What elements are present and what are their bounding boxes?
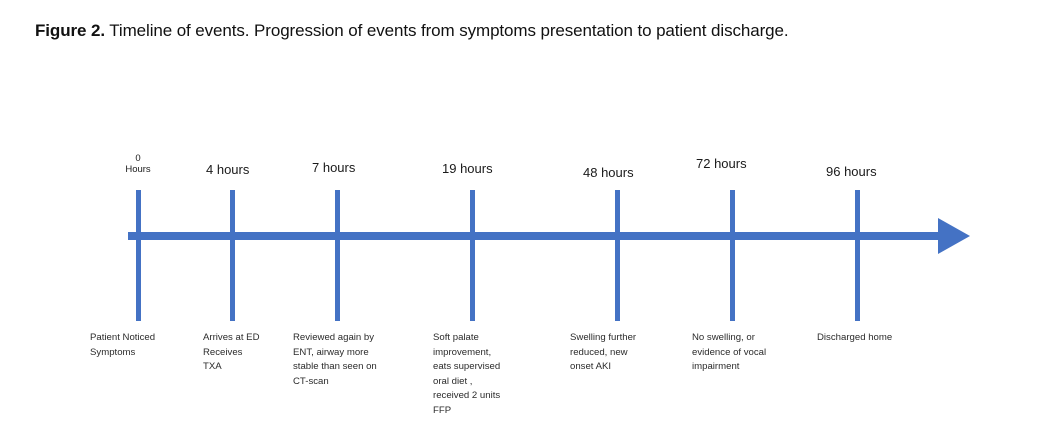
timeline-event-text-3: Soft palate improvement, eats supervised… (433, 331, 533, 419)
timeline-time-label-0-line2: Hours (125, 164, 150, 175)
timeline-tick-4 (615, 190, 620, 321)
timeline-time-label-1: 4 hours (206, 162, 249, 177)
timeline-event-text-2: Reviewed again by ENT, airway more stabl… (293, 331, 428, 389)
timeline-arrow-icon (938, 218, 970, 254)
timeline-event-text-0: Patient Noticed Symptoms (90, 331, 200, 360)
timeline-tick-6 (855, 190, 860, 321)
timeline-axis-line (128, 232, 943, 240)
timeline-time-label-5: 72 hours (696, 156, 747, 171)
timeline-time-label-3: 19 hours (442, 161, 493, 176)
timeline-event-text-5: No swelling, or evidence of vocal impair… (692, 331, 807, 375)
timeline-event-text-1: Arrives at ED Receives TXA (203, 331, 298, 375)
timeline-time-label-2: 7 hours (312, 160, 355, 175)
timeline-event-text-4: Swelling further reduced, new onset AKI (570, 331, 680, 375)
figure-page: Figure 2. Timeline of events. Progressio… (0, 0, 1053, 444)
timeline-tick-1 (230, 190, 235, 321)
timeline-tick-3 (470, 190, 475, 321)
timeline-time-label-0: 0Hours (118, 153, 158, 175)
timeline-tick-5 (730, 190, 735, 321)
timeline-time-label-4: 48 hours (583, 165, 634, 180)
timeline-tick-0 (136, 190, 141, 321)
timeline-event-text-6: Discharged home (817, 331, 937, 346)
timeline-diagram: 0Hours 4 hours 7 hours 19 hours 48 hours… (0, 0, 1053, 444)
timeline-tick-2 (335, 190, 340, 321)
timeline-time-label-0-line1: 0 (135, 153, 140, 164)
timeline-time-label-6: 96 hours (826, 164, 877, 179)
